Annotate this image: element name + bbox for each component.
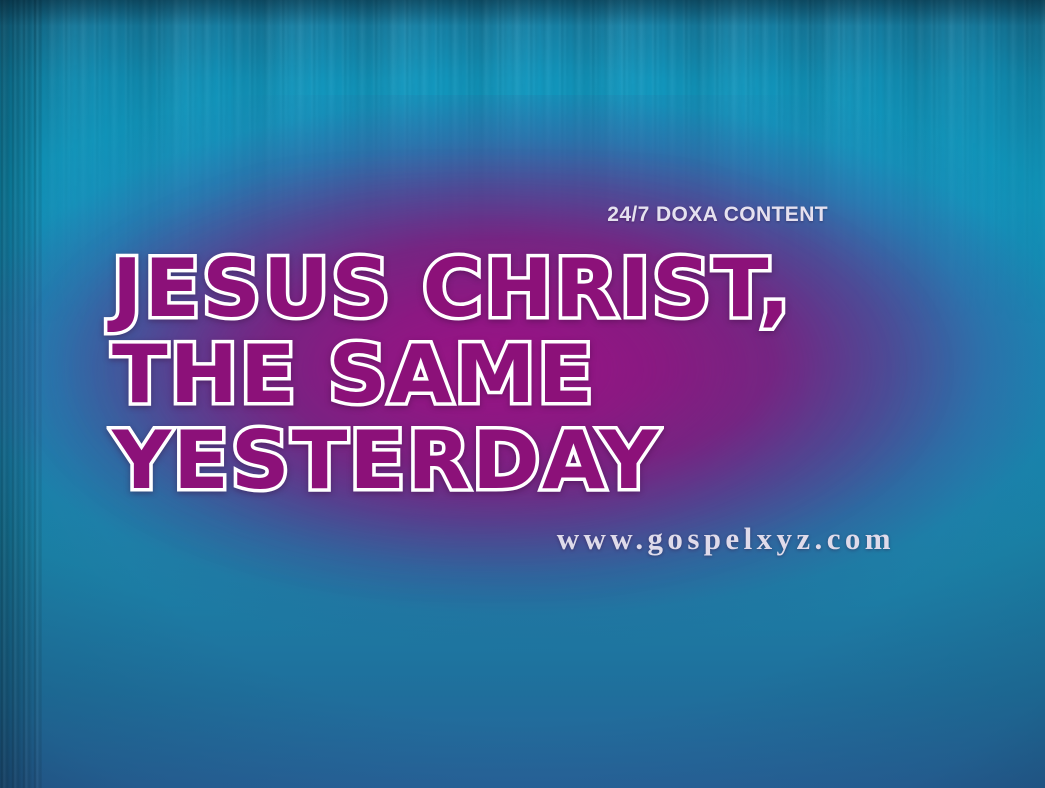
headline-line-2: THE SAME [112, 332, 1010, 418]
kicker-text: 24/7 DOXA CONTENT [0, 203, 828, 227]
headline-line-3: YESTERDAY [112, 418, 1010, 504]
gospel-quote-slide: 24/7 DOXA CONTENT JESUS CHRIST, THE SAME… [0, 0, 1045, 788]
headline-line-1: JESUS CHRIST, [112, 246, 1010, 332]
slide-content: 24/7 DOXA CONTENT JESUS CHRIST, THE SAME… [0, 0, 1045, 788]
website-url: www.gospelxyz.com [0, 521, 895, 557]
headline-block: JESUS CHRIST, THE SAME YESTERDAY [112, 246, 992, 504]
